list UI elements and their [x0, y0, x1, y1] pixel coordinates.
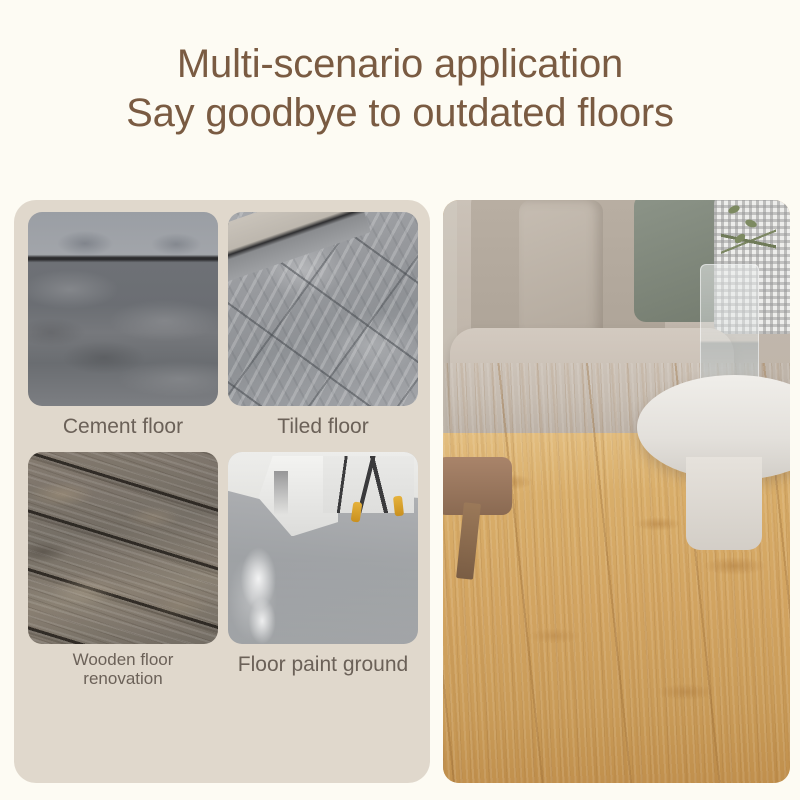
scenario-label-cement: Cement floor — [28, 406, 218, 452]
scenario-row-bottom: Wooden floor renovation Flo — [28, 452, 418, 690]
scenario-label-epoxy: Floor paint ground — [228, 644, 418, 690]
page-title: Multi-scenario application Say goodbye t… — [0, 40, 800, 138]
scenario-item-cement[interactable]: Cement floor — [28, 212, 218, 452]
epoxy-floor-image — [228, 452, 418, 644]
tiled-floor-image — [228, 212, 418, 406]
cushion-beige — [519, 200, 602, 340]
headline-line-2: Say goodbye to outdated floors — [0, 89, 800, 138]
scenario-label-wooden: Wooden floor renovation — [28, 644, 218, 690]
scenario-label-wooden-line2: renovation — [83, 669, 162, 688]
wooden-floor-image — [28, 452, 218, 644]
glass-vase — [700, 264, 759, 392]
scenarios-card: Cement floor Tiled floor — [14, 200, 430, 783]
scenario-row-top: Cement floor Tiled floor — [28, 212, 418, 452]
scenario-label-wooden-line1: Wooden floor — [73, 650, 174, 669]
scenario-label-tiled: Tiled floor — [228, 406, 418, 452]
scenario-item-tiled[interactable]: Tiled floor — [228, 212, 418, 452]
scenario-thumbnail-grid: Cement floor Tiled floor — [28, 212, 418, 690]
headline-line-1: Multi-scenario application — [0, 40, 800, 89]
scenario-item-epoxy[interactable]: Floor paint ground — [228, 452, 418, 690]
coffee-table-base — [686, 457, 762, 550]
cement-floor-image — [28, 212, 218, 406]
living-room-photo — [443, 200, 790, 783]
scenario-item-wooden[interactable]: Wooden floor renovation — [28, 452, 218, 690]
